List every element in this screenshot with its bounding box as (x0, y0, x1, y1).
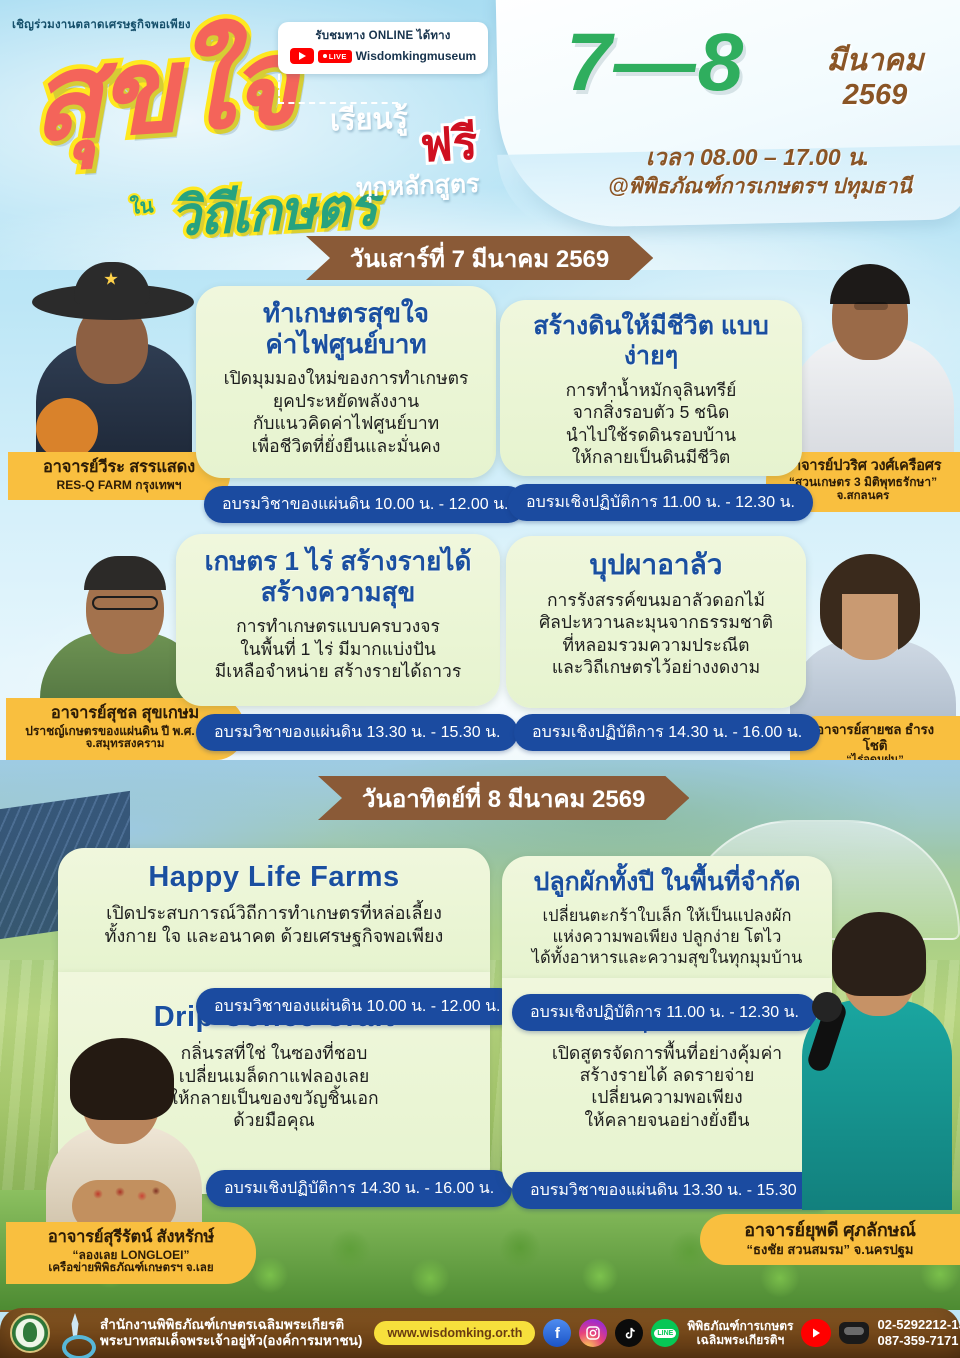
date-month-label: มีนาคม (800, 44, 950, 79)
day1-banner: วันเสาร์ที่ 7 มีนาคม 2569 (306, 236, 653, 280)
day1-card-3-time: อบรมวิชาของแผ่นดิน 13.30 น. - 15.30 น. (196, 714, 518, 751)
speaker-name: อาจารย์ยุพดี ศุภลักษณ์ (716, 1220, 944, 1242)
online-channel-row: LIVE Wisdomkingmuseum (278, 48, 488, 64)
card-title: บุปผาอาลัว (520, 548, 792, 581)
online-watch-box: รับชมทาง ONLINE ได้ทาง LIVE Wisdomkingmu… (278, 22, 488, 74)
website-link[interactable]: www.wisdomking.or.th (374, 1321, 535, 1345)
day2-card-2: ปลูกผักทั้งปี ในพื้นที่จำกัด เปลี่ยนตะกร… (502, 856, 832, 978)
speaker-name: อาจารย์วีระ สรรแสดง (24, 458, 214, 478)
line-icon[interactable]: LINE (651, 1319, 679, 1347)
day1-card-1-time: อบรมวิชาของแผ่นดิน 10.00 น. - 12.00 น. (204, 486, 526, 523)
logo-main-text: สุขใจ (26, 23, 297, 159)
museum-line-2: เฉลิมพระเกียรติฯ (687, 1333, 793, 1347)
live-label: LIVE (329, 52, 347, 61)
card-title: ปลูกผักทั้งปี ในพื้นที่จำกัด (516, 868, 818, 898)
day2-card-2-time: อบรมเชิงปฏิบัติการ 11.00 น. - 12.30 น. (512, 994, 817, 1031)
speaker-nametag-6: อาจารย์ยุพดี ศุภลักษณ์ “ธงชัย สวนสมรม” จ… (700, 1214, 960, 1265)
phone-number-1: 02-5292212-13 (877, 1317, 960, 1333)
poster-root: เชิญร่วมงานตลาดเศรษฐกิจพอเพียง สุขใจ ใน … (0, 0, 960, 1358)
day2-card-1-time: อบรมวิชาของแผ่นดิน 10.00 น. - 12.00 น. (196, 988, 518, 1025)
telephone-icon (839, 1322, 869, 1344)
org-line-1: สำนักงานพิพิธภัณฑ์เกษตรเฉลิมพระเกียรติ (100, 1317, 362, 1333)
card-description: เปิดสูตรจัดการพื้นที่อย่างคุ้มค่า สร้างร… (516, 1042, 818, 1132)
line-label: LINE (654, 1329, 676, 1338)
instagram-icon[interactable] (579, 1319, 607, 1347)
day2-card-3-time: อบรมเชิงปฏิบัติการ 14.30 น. - 16.00 น. (206, 1170, 512, 1207)
speaker-name: อาจารย์ปวริศ วงศ์เครือศร (782, 458, 944, 475)
day1-card-4-time: อบรมเชิงปฏิบัติการ 14.30 น. - 16.00 น. (514, 714, 820, 751)
speaker-photo-5 (20, 1030, 220, 1245)
museum-line-1: พิพิธภัณฑ์การเกษตร (687, 1319, 793, 1333)
day1-card-4: บุปผาอาลัว การรังสรรค์ขนมอาลัวดอกไม้ ศิล… (506, 536, 806, 708)
phone-numbers: 02-5292212-13 087-359-7171 (877, 1317, 960, 1350)
organization-name: สำนักงานพิพิธภัณฑ์เกษตรเฉลิมพระเกียรติ พ… (100, 1317, 362, 1350)
speaker-name: อาจารย์สุชล สุขเกษม (22, 704, 228, 724)
day1-card-2-time: อบรมเชิงปฏิบัติการ 11.00 น. - 12.30 น. (508, 484, 813, 521)
card-title: ทำเกษตรสุขใจ ค่าไฟศูนย์บาท (210, 298, 482, 359)
card-description: การทำน้ำหมักจุลินทรีย์ จากสิ่งรอบตัว 5 ช… (514, 379, 788, 469)
speaker-photo-4 (780, 540, 960, 740)
day2-card-1: Happy Life Farms เปิดประสบการณ์วิถีการทำ… (58, 848, 490, 972)
card-title: เกษตร 1 ไร่ สร้างรายได้ สร้างความสุข (190, 546, 486, 607)
date-range: 7—8 (566, 22, 745, 104)
youtube-icon (290, 48, 314, 64)
speaker-photo-6 (790, 880, 960, 1220)
footer-bar: สำนักงานพิพิธภัณฑ์เกษตรเฉลิมพระเกียรติ พ… (0, 1308, 960, 1358)
speaker-org: “ธงชัย สวนสมรม” จ.นครปฐม (716, 1242, 944, 1258)
card-title: สร้างดินให้มีชีวิต แบบง่ายๆ (514, 312, 788, 371)
logo-tiny-text: ใน (129, 189, 155, 223)
crown-logo-icon (58, 1313, 92, 1353)
speaker-org: RES-Q FARM กรุงเทพฯ (24, 478, 214, 492)
online-watch-label: รับชมทาง ONLINE ได้ทาง (278, 27, 488, 45)
phone-number-2: 087-359-7171 (877, 1333, 960, 1349)
card-description: เปลี่ยนตะกร้าใบเล็ก ให้เป็นแปลงผัก แห่งค… (516, 906, 818, 969)
speaker-nametag-5: อาจารย์สุรีรัตน์ สังหรักษ์ “ลองเลย LONGL… (6, 1222, 256, 1284)
youtube-footer-icon[interactable] (801, 1319, 831, 1347)
speaker-name: อาจารย์สายชล ธำรงโชติ (806, 722, 944, 754)
day2-card-4-time: อบรมวิชาของแผ่นดิน 13.30 น. - 15.30 น. (512, 1172, 834, 1209)
museum-name: พิพิธภัณฑ์การเกษตร เฉลิมพระเกียรติฯ (687, 1319, 793, 1348)
dashed-connector-vertical (278, 74, 280, 104)
facebook-icon[interactable]: f (543, 1319, 571, 1347)
date-year-label: 2569 (800, 79, 950, 112)
card-description: เปิดมุมมองใหม่ของการทำเกษตร ยุคประหยัดพล… (210, 367, 482, 457)
live-dot-icon (323, 54, 327, 58)
speaker-name: อาจารย์สุรีรัตน์ สังหรักษ์ (22, 1228, 240, 1248)
date-month-year: มีนาคม 2569 (800, 44, 950, 112)
speaker-photo-1 (18, 250, 208, 465)
event-place: @พิพิธภัณฑ์การเกษตรฯ ปทุมธานี (560, 170, 960, 203)
day1-card-2: สร้างดินให้มีชีวิต แบบง่ายๆ การทำน้ำหมัก… (500, 300, 802, 476)
day2-banner: วันอาทิตย์ที่ 8 มีนาคม 2569 (318, 776, 689, 820)
day1-card-3: เกษตร 1 ไร่ สร้างรายได้ สร้างความสุข การ… (176, 534, 500, 706)
all-courses-label: ทุกหลักสูตร (355, 164, 480, 208)
card-description: การรังสรรค์ขนมอาลัวดอกไม้ ศิลปะหวานละมุน… (520, 589, 792, 679)
live-badge: LIVE (318, 50, 352, 63)
card-description: เปิดประสบการณ์วิถีการทำเกษตรที่หล่อเลี้ย… (72, 902, 476, 948)
speaker-org: “ลองเลย LONGLOEI” (22, 1248, 240, 1262)
card-title: Happy Life Farms (72, 860, 476, 894)
royal-seal-icon (10, 1313, 50, 1353)
learn-label: เรียนรู้ (329, 95, 408, 144)
org-line-2: พระบาทสมเด็จพระเจ้าอยู่หัว(องค์การมหาชน) (100, 1333, 362, 1349)
speaker-province: เครือข่ายพิพิธภัณฑ์เกษตรฯ จ.เลย (22, 1262, 240, 1276)
card-description: การทำเกษตรแบบครบวงจร ในพื้นที่ 1 ไร่ มีม… (190, 615, 486, 682)
channel-name: Wisdomkingmuseum (356, 49, 477, 63)
day1-card-1: ทำเกษตรสุขใจ ค่าไฟศูนย์บาท เปิดมุมมองใหม… (196, 286, 496, 478)
tiktok-icon[interactable] (615, 1319, 643, 1347)
